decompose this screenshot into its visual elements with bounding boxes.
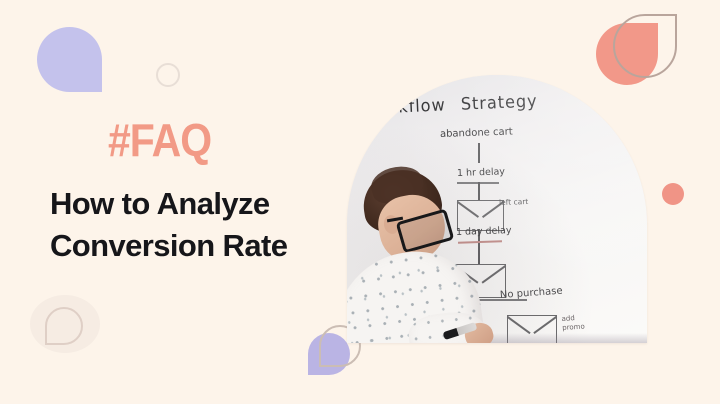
teardrop-bottom-center-icon xyxy=(308,333,350,375)
whiteboard-node-add-promo: add promo xyxy=(561,313,596,334)
whiteboard-node-day-delay: 1 day delay xyxy=(456,225,512,238)
whiteboard-node-left-cart: left cart xyxy=(499,197,529,207)
faq-eyebrow: #FAQ xyxy=(108,118,350,164)
connector-line-4 xyxy=(478,245,480,264)
whiteboard-node-hr-delay: 1 hr delay xyxy=(457,166,505,179)
connector-line-1 xyxy=(478,143,480,163)
text-column: #FAQ How to Analyze Conversion Rate xyxy=(50,118,350,266)
whiteboard-title-word-2: Strategy xyxy=(460,91,538,114)
whiteboard-photo: WorkflowStrategy abandone cart 1 hr dela… xyxy=(347,75,647,343)
teardrop-bottom-left-icon xyxy=(45,307,83,345)
teardrop-top-right-ring-icon xyxy=(613,14,677,78)
whiteboard-title-word-1: Workflow xyxy=(364,95,447,119)
dot-right-edge-icon xyxy=(662,183,684,205)
background-wash xyxy=(30,295,100,353)
faq-slide: #FAQ How to Analyze Conversion Rate Work… xyxy=(0,0,720,404)
page-title: How to Analyze Conversion Rate xyxy=(50,183,350,266)
headline-line-2: Conversion Rate xyxy=(50,225,350,267)
headline-line-1: How to Analyze xyxy=(50,183,350,225)
teardrop-top-left-icon xyxy=(37,27,102,92)
ring-circle-top-icon xyxy=(156,63,180,87)
connector-line-2 xyxy=(478,182,480,200)
